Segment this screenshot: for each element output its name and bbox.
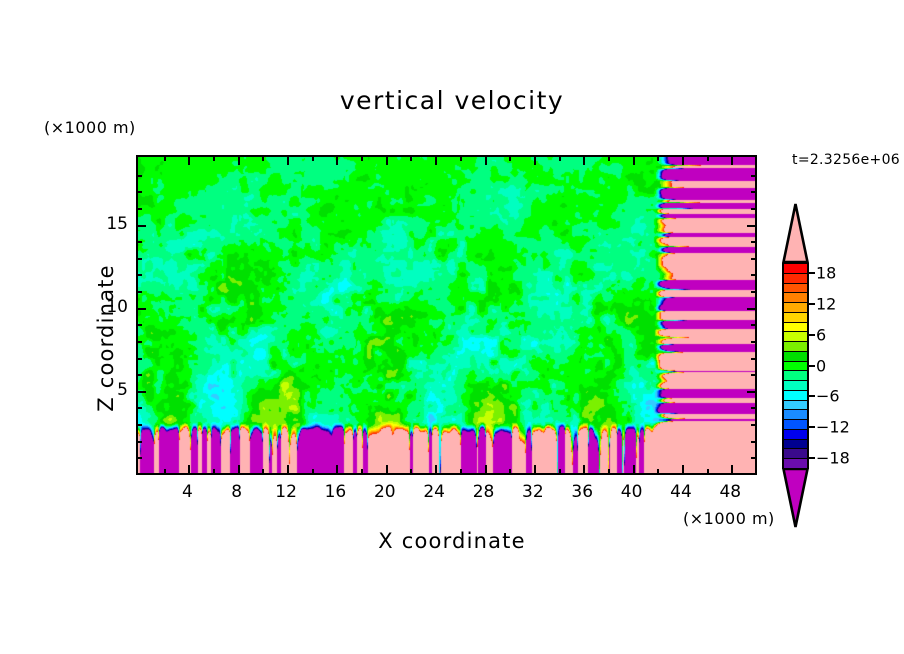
colorbar-tick (809, 457, 815, 459)
axis-tick (410, 469, 412, 474)
axis-tick (410, 156, 412, 161)
axis-tick (137, 374, 142, 376)
axis-tick (633, 156, 635, 165)
x-tick-label: 32 (522, 482, 544, 502)
colorbar-tick-label: −12 (816, 418, 850, 437)
figure-canvas: vertical velocity (×1000 m) t=2.3256e+06… (0, 0, 904, 654)
x-tick-label: 40 (621, 482, 643, 502)
axis-tick (751, 191, 756, 193)
axis-tick (137, 175, 142, 177)
axis-tick (583, 156, 585, 165)
axis-tick (751, 324, 756, 326)
axis-tick (534, 465, 536, 474)
axis-tick (751, 241, 756, 243)
axis-tick (751, 175, 756, 177)
x-tick-label: 8 (231, 482, 242, 502)
axis-tick (262, 156, 264, 161)
x-tick-label: 20 (374, 482, 396, 502)
axis-tick (583, 465, 585, 474)
axis-tick (751, 208, 756, 210)
timestamp-annotation: t=2.3256e+06 (792, 152, 900, 168)
axis-tick (751, 424, 756, 426)
x-tick-label: 28 (473, 482, 495, 502)
axis-tick (137, 424, 142, 426)
axis-tick (213, 469, 215, 474)
axis-tick (751, 341, 756, 343)
axis-tick (386, 156, 388, 165)
colorbar-tick-label: 12 (816, 295, 836, 314)
axis-tick (682, 465, 684, 474)
axis-tick (751, 258, 756, 260)
axis-tick (164, 156, 166, 161)
axis-tick (460, 156, 462, 161)
axis-tick (137, 274, 142, 276)
axis-tick (707, 156, 709, 161)
axis-tick (731, 156, 733, 165)
axis-tick (682, 156, 684, 165)
x-axis-unit-label: (×1000 m) (683, 509, 775, 528)
axis-tick (361, 469, 363, 474)
y-tick-label: 5 (117, 380, 128, 400)
axis-tick (747, 391, 756, 393)
contour-plot-area (136, 155, 757, 475)
axis-tick (751, 441, 756, 443)
axis-tick (751, 374, 756, 376)
axis-tick (657, 156, 659, 161)
colorbar-tick-label: 6 (816, 325, 826, 344)
axis-tick (188, 156, 190, 165)
x-tick-label: 16 (325, 482, 347, 502)
axis-tick (707, 469, 709, 474)
colorbar-tick-label: −18 (816, 448, 850, 467)
x-tick-label: 12 (275, 482, 297, 502)
axis-tick (137, 258, 142, 260)
axis-tick (747, 225, 756, 227)
colorbar-tick (809, 272, 815, 274)
colorbar (782, 263, 809, 468)
axis-tick (485, 465, 487, 474)
axis-tick (534, 156, 536, 165)
axis-tick (751, 457, 756, 459)
colorbar-tick (809, 426, 815, 428)
chart-title: vertical velocity (0, 86, 904, 115)
colorbar-high-cap (782, 203, 809, 263)
axis-tick (213, 156, 215, 161)
x-tick-label: 44 (670, 482, 692, 502)
axis-tick (137, 341, 142, 343)
axis-tick (238, 156, 240, 165)
axis-tick (559, 156, 561, 161)
axis-tick (238, 465, 240, 474)
axis-tick (287, 465, 289, 474)
axis-tick (361, 156, 363, 161)
contour-field (138, 157, 755, 473)
x-axis-title: X coordinate (0, 529, 904, 553)
axis-tick (262, 469, 264, 474)
axis-tick (336, 156, 338, 165)
axis-tick (633, 465, 635, 474)
axis-tick (608, 469, 610, 474)
axis-tick (509, 156, 511, 161)
axis-tick (287, 156, 289, 165)
axis-tick (164, 469, 166, 474)
axis-tick (731, 465, 733, 474)
axis-tick (137, 241, 142, 243)
axis-tick (751, 407, 756, 409)
axis-tick (188, 465, 190, 474)
y-axis-unit-label: (×1000 m) (44, 118, 136, 137)
axis-tick (312, 156, 314, 161)
axis-tick (435, 156, 437, 165)
y-axis-title: Z coordinate (94, 218, 118, 458)
axis-tick (137, 208, 142, 210)
colorbar-tick (809, 303, 815, 305)
axis-tick (137, 457, 142, 459)
x-tick-label: 24 (423, 482, 445, 502)
axis-tick (386, 465, 388, 474)
x-tick-label: 36 (571, 482, 593, 502)
axis-tick (137, 291, 142, 293)
axis-tick (137, 358, 142, 360)
axis-tick (559, 469, 561, 474)
axis-tick (657, 469, 659, 474)
axis-tick (747, 308, 756, 310)
x-tick-label: 4 (182, 482, 193, 502)
colorbar-tick (809, 365, 815, 367)
colorbar-tick-label: −6 (816, 387, 840, 406)
colorbar-tick (809, 395, 815, 397)
colorbar-tick-label: 0 (816, 356, 826, 375)
axis-tick (137, 308, 146, 310)
axis-tick (137, 391, 146, 393)
colorbar-low-cap (782, 468, 809, 528)
axis-tick (435, 465, 437, 474)
axis-tick (312, 469, 314, 474)
axis-tick (137, 324, 142, 326)
x-tick-label: 48 (719, 482, 741, 502)
colorbar-tick (809, 334, 815, 336)
axis-tick (336, 465, 338, 474)
colorbar-tick-label: 18 (816, 264, 836, 283)
axis-tick (137, 191, 142, 193)
axis-tick (460, 469, 462, 474)
axis-tick (751, 291, 756, 293)
axis-tick (485, 156, 487, 165)
axis-tick (751, 358, 756, 360)
axis-tick (137, 225, 146, 227)
axis-tick (608, 156, 610, 161)
axis-tick (509, 469, 511, 474)
axis-tick (137, 407, 142, 409)
axis-tick (137, 441, 142, 443)
axis-tick (751, 274, 756, 276)
